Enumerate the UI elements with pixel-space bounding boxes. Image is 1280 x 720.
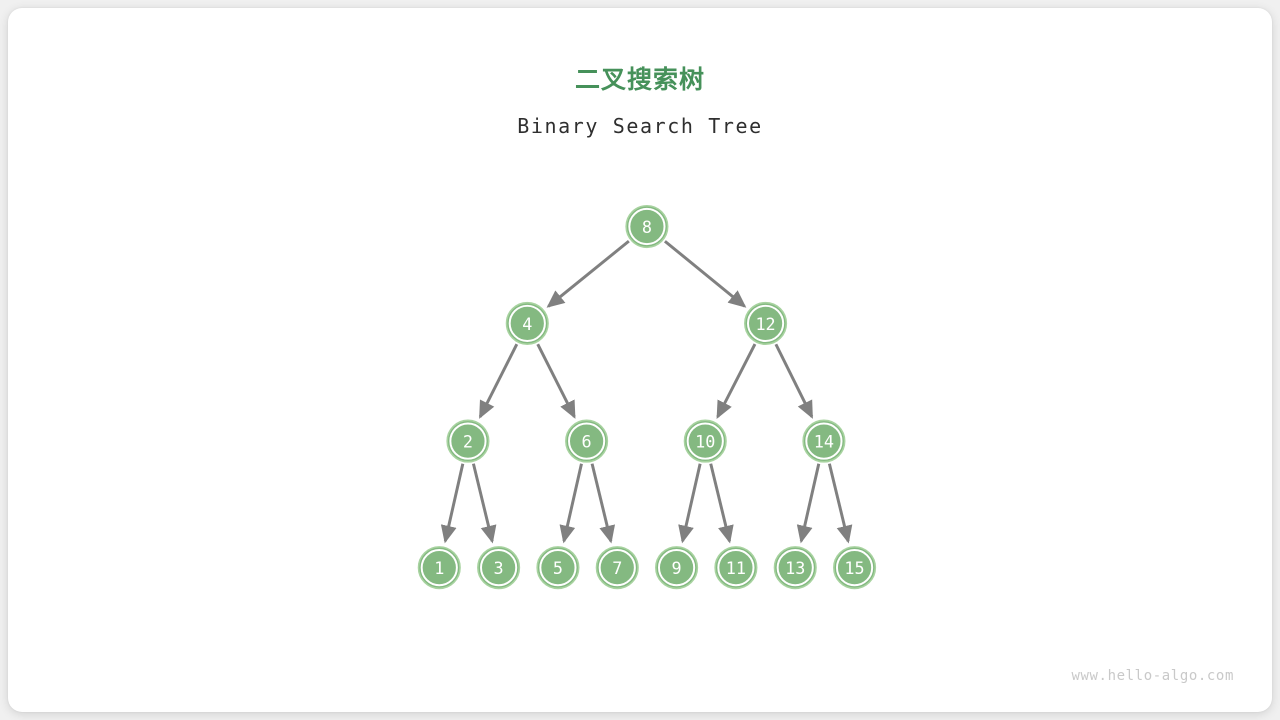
tree-node[interactable]: 9 [656, 547, 698, 589]
tree-edge [829, 464, 848, 542]
tree-node-label: 5 [553, 558, 563, 578]
tree-node[interactable]: 10 [684, 420, 726, 462]
tree-node-label: 3 [494, 558, 504, 578]
tree-edge [445, 464, 463, 541]
tree-node-label: 12 [755, 314, 775, 334]
tree-edge-layer [445, 241, 848, 541]
tree-node-label: 7 [612, 558, 622, 578]
tree-node-label: 2 [463, 432, 473, 452]
tree-edge [548, 241, 628, 306]
tree-node-label: 10 [695, 432, 715, 452]
tree-node[interactable]: 11 [715, 547, 757, 589]
tree-node[interactable]: 8 [626, 206, 668, 248]
tree-node[interactable]: 4 [507, 303, 549, 345]
tree-node-label: 9 [672, 558, 682, 578]
tree-node-label: 14 [814, 432, 834, 452]
tree-node-label: 1 [434, 558, 444, 578]
tree-node[interactable]: 13 [774, 547, 816, 589]
tree-node-label: 15 [844, 558, 864, 578]
tree-edge [592, 464, 611, 542]
tree-edge [683, 464, 701, 541]
tree-edge [564, 464, 582, 541]
tree-node-label: 11 [726, 558, 746, 578]
tree-node[interactable]: 1 [419, 547, 461, 589]
tree-edge [480, 344, 517, 417]
tree-node[interactable]: 15 [834, 547, 876, 589]
tree-node[interactable]: 14 [803, 420, 845, 462]
tree-node-label: 4 [522, 314, 532, 334]
tree-node[interactable]: 3 [478, 547, 520, 589]
tree-node-layer: 841226101413579111315 [419, 206, 876, 589]
binary-search-tree-diagram: 841226101413579111315 [8, 8, 1272, 712]
site-footer: www.hello-algo.com [1071, 668, 1234, 684]
tree-edge [718, 344, 755, 417]
tree-edge [711, 464, 730, 542]
tree-node-label: 13 [785, 558, 805, 578]
tree-node[interactable]: 2 [447, 420, 489, 462]
tree-edge [801, 464, 819, 541]
tree-node-label: 8 [642, 217, 652, 237]
tree-node[interactable]: 6 [566, 420, 608, 462]
diagram-card: 二叉搜索树 Binary Search Tree 841226101413579… [8, 8, 1272, 712]
tree-node-label: 6 [582, 432, 592, 452]
tree-edge [473, 464, 492, 542]
tree-node[interactable]: 7 [596, 547, 638, 589]
tree-edge [538, 344, 575, 417]
tree-edge [776, 344, 812, 416]
tree-edge [665, 241, 745, 306]
tree-node[interactable]: 5 [537, 547, 579, 589]
tree-node[interactable]: 12 [745, 303, 787, 345]
